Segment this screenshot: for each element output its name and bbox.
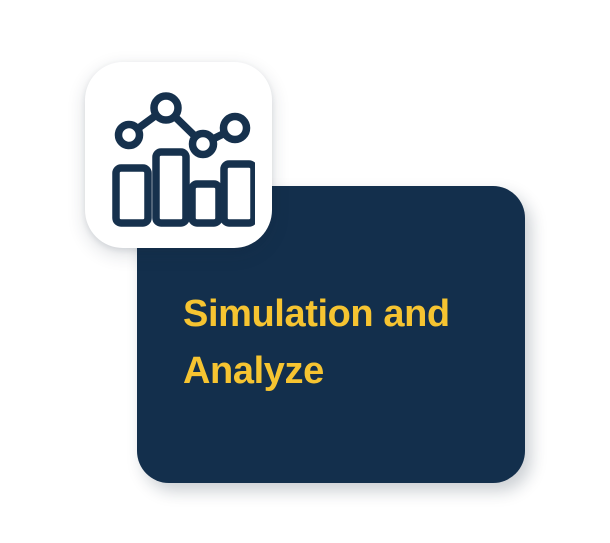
screenshot-canvas: Simulation and Analyze — [0, 0, 610, 543]
card-title: Simulation and Analyze — [183, 286, 503, 400]
icon-tile[interactable] — [85, 62, 272, 248]
bar-line-chart-icon — [103, 82, 255, 228]
